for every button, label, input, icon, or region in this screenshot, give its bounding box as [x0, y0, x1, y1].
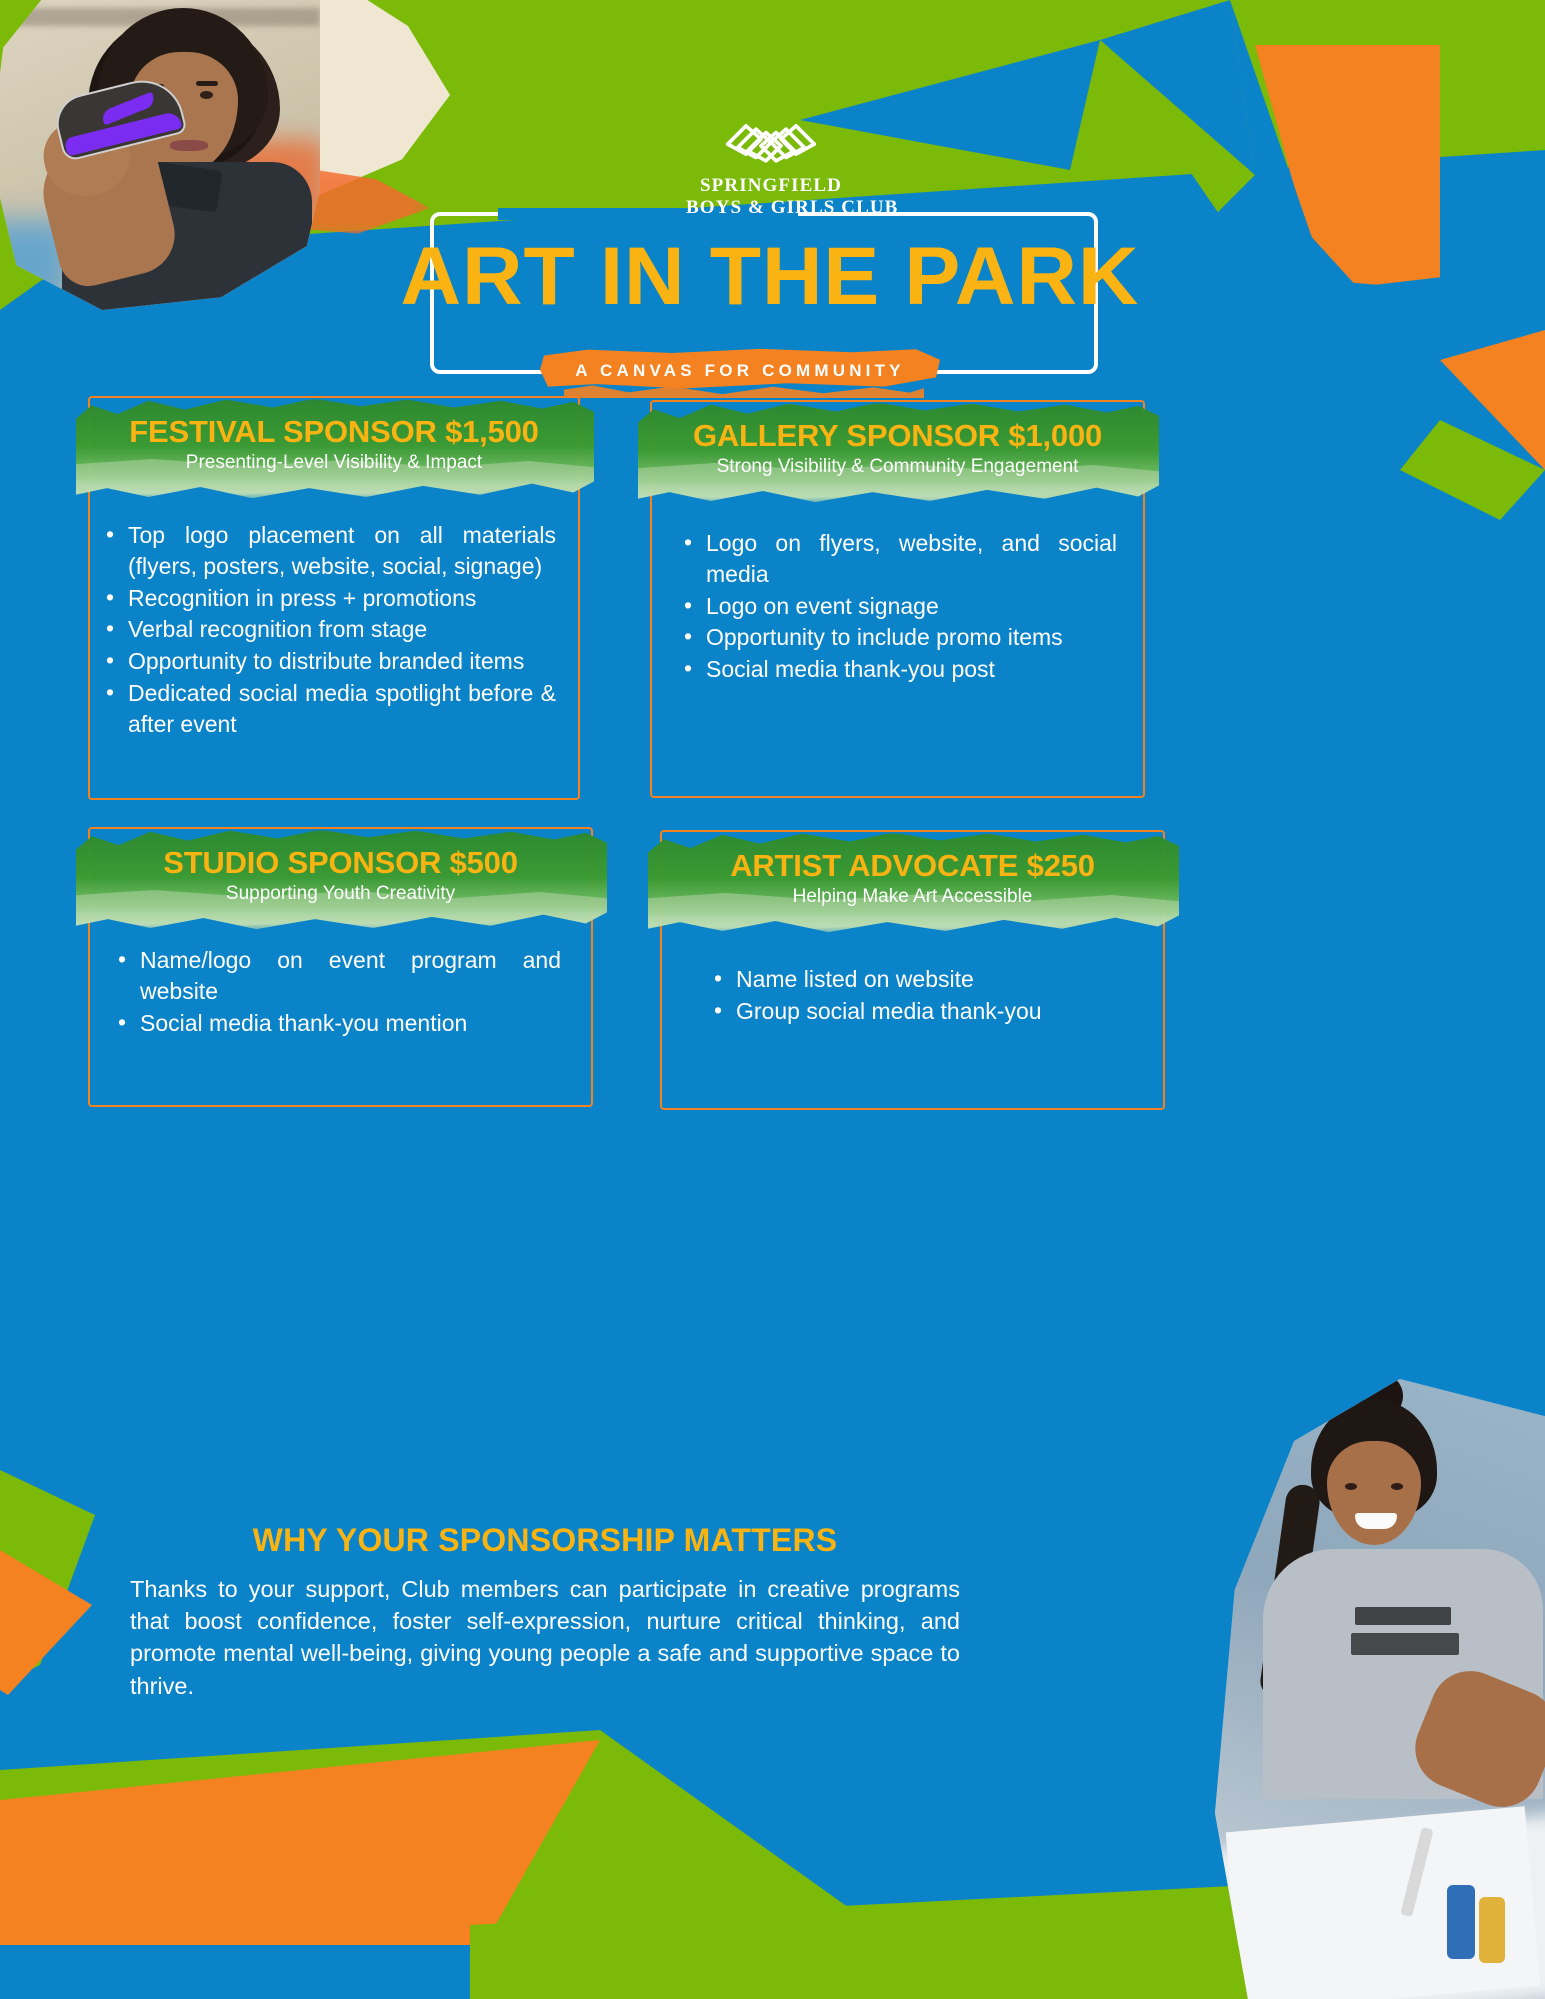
card-benefit-list: Name/logo on event program and website S… [110, 945, 561, 1038]
sponsorship-flyer: SPRINGFIELD BOYS & GIRLS CLUB ART IN THE… [0, 0, 1545, 1999]
tagline-text: A CANVAS FOR COMMUNITY [540, 348, 940, 394]
page-title: ART IN THE PARK [393, 230, 1148, 324]
list-item: Social media thank-you post [676, 654, 1117, 685]
sponsor-card-festival[interactable]: FESTIVAL SPONSOR $1,500 Presenting-Level… [88, 396, 580, 800]
sponsor-card-artist[interactable]: ARTIST ADVOCATE $250 Helping Make Art Ac… [660, 830, 1165, 1110]
sponsor-card-studio[interactable]: STUDIO SPONSOR $500 Supporting Youth Cre… [88, 827, 593, 1107]
list-item: Opportunity to distribute branded items [98, 646, 556, 677]
list-item: Name listed on website [706, 964, 1137, 995]
list-item: Logo on event signage [676, 591, 1117, 622]
list-item: Social media thank-you mention [110, 1008, 561, 1039]
boys-girls-club-handshake-icon [721, 110, 821, 170]
list-item: Opportunity to include promo items [676, 622, 1117, 653]
card-title: STUDIO SPONSOR $500 [90, 829, 591, 881]
organization-logo: SPRINGFIELD BOYS & GIRLS CLUB [686, 110, 856, 220]
card-benefit-list: Name listed on website Group social medi… [706, 964, 1137, 1027]
tagline-banner: A CANVAS FOR COMMUNITY [540, 348, 940, 394]
card-benefit-list: Logo on flyers, website, and social medi… [676, 528, 1117, 685]
card-subtitle: Strong Visibility & Community Engagement [652, 456, 1143, 478]
list-item: Verbal recognition from stage [98, 614, 556, 645]
list-item: Top logo placement on all materials (fly… [98, 520, 556, 582]
list-item: Recognition in press + promotions [98, 583, 556, 614]
card-subtitle: Supporting Youth Creativity [90, 883, 591, 905]
card-title: FESTIVAL SPONSOR $1,500 [90, 398, 578, 450]
list-item: Name/logo on event program and website [110, 945, 561, 1007]
org-name-line2: BOYS & GIRLS CLUB [686, 197, 856, 219]
list-item: Logo on flyers, website, and social medi… [676, 528, 1117, 590]
card-title: GALLERY SPONSOR $1,000 [652, 402, 1143, 454]
org-name-line1: SPRINGFIELD [686, 175, 856, 197]
card-title: ARTIST ADVOCATE $250 [662, 832, 1163, 884]
sponsor-card-gallery[interactable]: GALLERY SPONSOR $1,000 Strong Visibility… [650, 400, 1145, 798]
why-sponsorship-section: WHY YOUR SPONSORSHIP MATTERS Thanks to y… [130, 1522, 960, 1702]
footer-heading: WHY YOUR SPONSORSHIP MATTERS [130, 1522, 960, 1559]
card-benefit-list: Top logo placement on all materials (fly… [98, 520, 556, 740]
footer-body: Thanks to your support, Club members can… [130, 1573, 960, 1702]
card-subtitle: Helping Make Art Accessible [662, 886, 1163, 908]
list-item: Group social media thank-you [706, 996, 1137, 1027]
list-item: Dedicated social media spotlight before … [98, 678, 556, 740]
card-subtitle: Presenting-Level Visibility & Impact [90, 452, 578, 474]
